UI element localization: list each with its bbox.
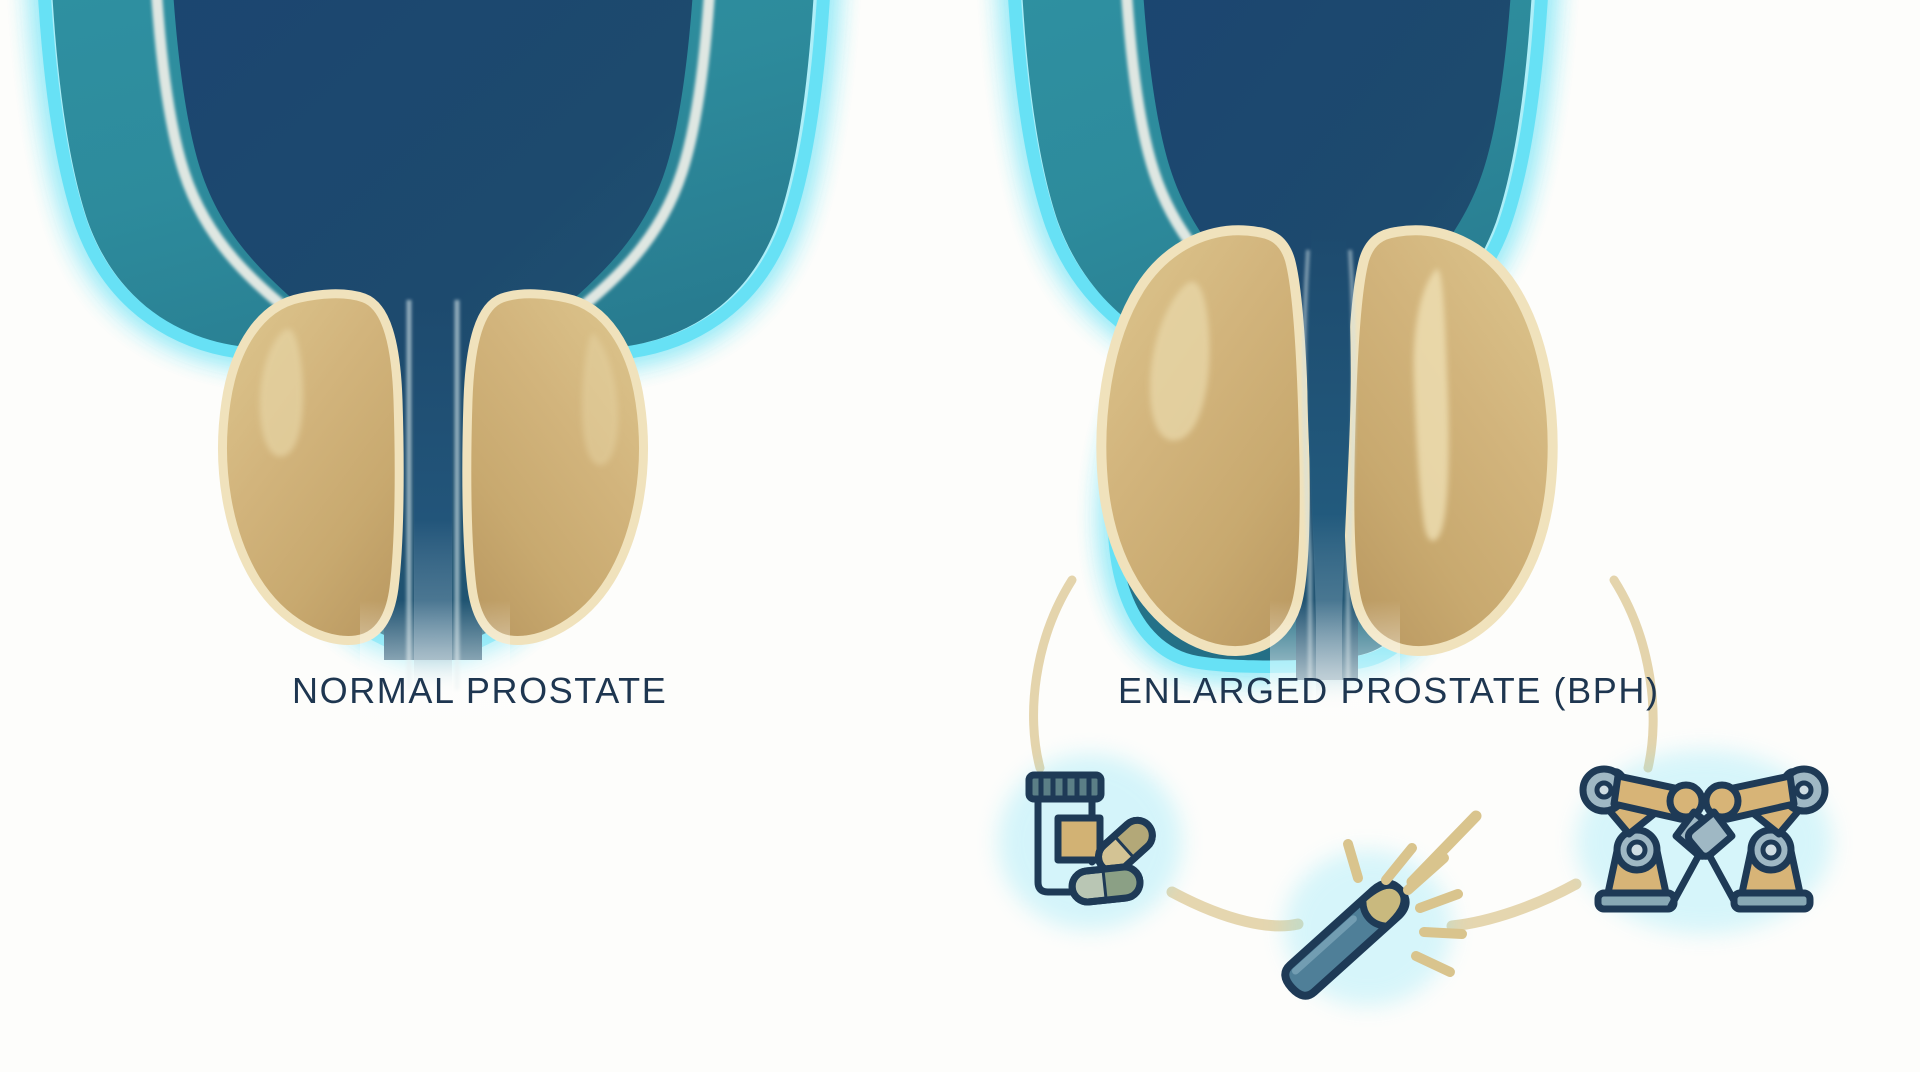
prostate-lobe-left-enlarged bbox=[1101, 230, 1304, 651]
anatomy-illustration bbox=[0, 0, 1920, 1072]
normal-prostate-label: NORMAL PROSTATE bbox=[292, 670, 667, 712]
robot-joint-elbow-left-inner bbox=[1597, 783, 1611, 797]
connector-arc-mid-left bbox=[1172, 892, 1298, 926]
bottle-label bbox=[1058, 818, 1100, 860]
robot-joint-shoulder-right-inner bbox=[1763, 842, 1779, 858]
laser-therapy-icon-group[interactable] bbox=[1280, 816, 1476, 1006]
capsule-horizontal[interactable] bbox=[1071, 866, 1142, 904]
illustration-canvas: NORMAL PROSTATE ENLARGED PROSTATE (BPH) bbox=[0, 0, 1920, 1072]
connector-arc-mid-right bbox=[1452, 884, 1576, 926]
prostate-lobe-right-enlarged bbox=[1349, 230, 1552, 651]
medication-icon-group[interactable] bbox=[998, 754, 1182, 930]
laser-beam bbox=[1412, 816, 1476, 882]
enlarged-prostate-label: ENLARGED PROSTATE (BPH) bbox=[1118, 670, 1660, 712]
robot-joint-elbow-right-inner bbox=[1797, 783, 1811, 797]
enlarged-prostate-figure bbox=[1010, 0, 1553, 730]
connector-arc-left bbox=[1034, 580, 1072, 768]
robot-joint-shoulder-left-inner bbox=[1629, 842, 1645, 858]
prostate-lobe-right-normal bbox=[467, 294, 644, 641]
normal-prostate-figure bbox=[40, 0, 828, 730]
prostate-lobe-left-normal bbox=[223, 294, 400, 641]
robotic-surgery-icon-group[interactable] bbox=[1576, 750, 1832, 934]
